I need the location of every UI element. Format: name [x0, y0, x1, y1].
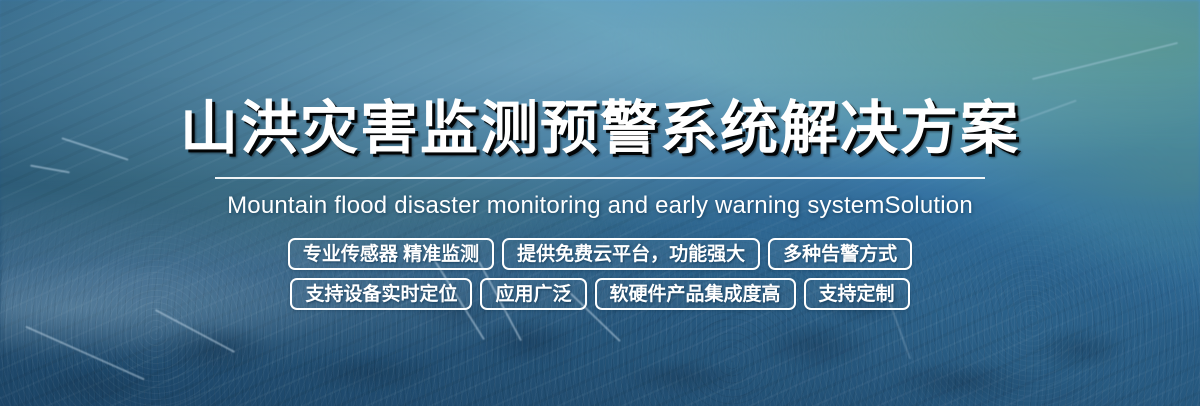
banner-title: 山洪灾害监测预警系统解决方案 [0, 98, 1200, 160]
banner-content: 山洪灾害监测预警系统解决方案 Mountain flood disaster m… [0, 0, 1200, 406]
banner-subtitle: Mountain flood disaster monitoring and e… [0, 190, 1200, 222]
feature-tag[interactable]: 支持设备实时定位 [290, 278, 472, 310]
feature-tag[interactable]: 专业传感器 精准监测 [288, 238, 494, 270]
feature-tag[interactable]: 提供免费云平台，功能强大 [502, 238, 760, 270]
feature-tag[interactable]: 应用广泛 [480, 278, 586, 310]
feature-tag-row: 专业传感器 精准监测 提供免费云平台，功能强大 多种告警方式 [288, 238, 912, 270]
feature-tag[interactable]: 多种告警方式 [768, 238, 912, 270]
feature-tag-row: 支持设备实时定位 应用广泛 软硬件产品集成度高 支持定制 [290, 278, 909, 310]
feature-tag[interactable]: 软硬件产品集成度高 [595, 278, 796, 310]
title-divider [215, 177, 985, 179]
hero-banner: 山洪灾害监测预警系统解决方案 Mountain flood disaster m… [0, 0, 1200, 406]
feature-tag[interactable]: 支持定制 [804, 278, 910, 310]
feature-tag-list: 专业传感器 精准监测 提供免费云平台，功能强大 多种告警方式 支持设备实时定位 … [0, 238, 1200, 310]
